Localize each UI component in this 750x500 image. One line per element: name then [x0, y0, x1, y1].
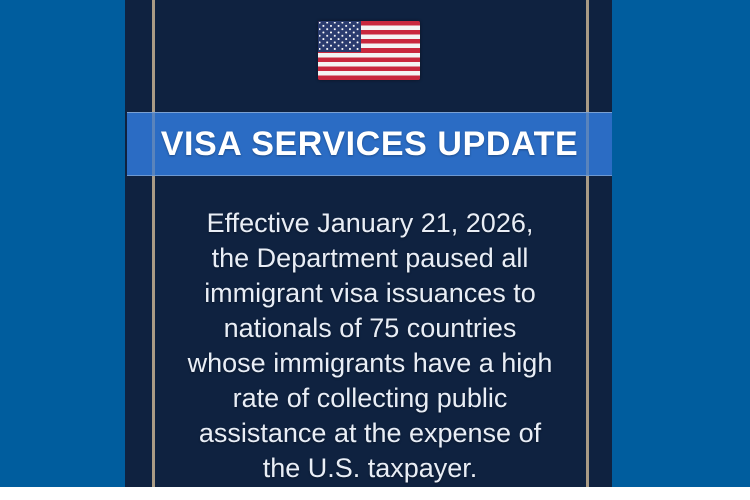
- body-line: the Department paused all: [155, 241, 585, 276]
- body-line: whose immigrants have a high: [155, 346, 585, 381]
- body-line: the U.S. taxpayer.: [155, 451, 585, 486]
- flag-stars: [319, 22, 360, 52]
- announcement-body: Effective January 21, 2026, the Departme…: [155, 206, 585, 486]
- page-title: VISA SERVICES UPDATE: [161, 125, 579, 164]
- us-flag-icon: [318, 21, 420, 80]
- body-line: rate of collecting public: [155, 381, 585, 416]
- body-line: Effective January 21, 2026,: [155, 206, 585, 241]
- body-line: nationals of 75 countries: [155, 311, 585, 346]
- title-banner: VISA SERVICES UPDATE: [127, 112, 612, 176]
- body-line: assistance at the expense of: [155, 416, 585, 451]
- flag-container: [125, 10, 612, 90]
- announcement-graphic: VISA SERVICES UPDATE Effective January 2…: [0, 0, 750, 500]
- bottom-white-strip: [0, 487, 750, 500]
- body-line: immigrant visa issuances to: [155, 276, 585, 311]
